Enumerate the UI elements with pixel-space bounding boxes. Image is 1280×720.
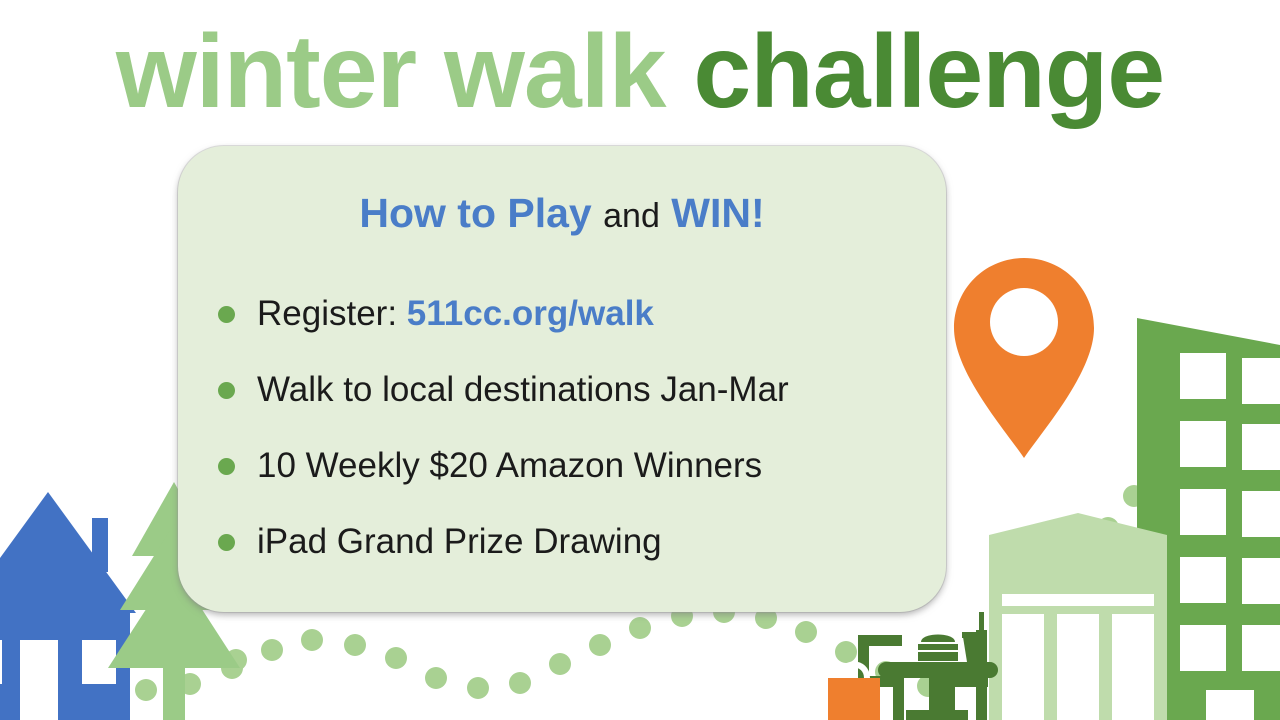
shopping-bag-icon: [828, 665, 880, 720]
poster-canvas: winter walk challenge How to Play and WI…: [0, 0, 1280, 720]
list-item-label: Register: 511cc.org/walk: [257, 294, 654, 334]
list-item-text: 10 Weekly $20 Amazon Winners: [257, 446, 762, 485]
title-dark-part: challenge: [693, 14, 1164, 130]
heading-conjunction: and: [603, 197, 660, 235]
card-heading: How to Play and WIN!: [178, 190, 946, 239]
page-title: winter walk challenge: [0, 14, 1280, 130]
list-item: Register: 511cc.org/walk: [218, 276, 918, 352]
heading-trail: WIN!: [671, 190, 764, 236]
list-item-label: 10 Weekly $20 Amazon Winners: [257, 446, 762, 486]
map-pin-icon: [954, 258, 1094, 458]
list-item-label: iPad Grand Prize Drawing: [257, 522, 662, 562]
bullet-dot-icon: [218, 306, 235, 323]
list-item: Walk to local destinations Jan-Mar: [218, 352, 918, 428]
bullet-dot-icon: [218, 458, 235, 475]
list-item-label: Walk to local destinations Jan-Mar: [257, 370, 789, 410]
house-icon: [0, 492, 136, 720]
list-item-text: iPad Grand Prize Drawing: [257, 522, 662, 561]
bullet-list: Register: 511cc.org/walk Walk to local d…: [218, 276, 918, 580]
burger-icon: [918, 635, 958, 662]
list-item-text: Register:: [257, 294, 407, 333]
register-link[interactable]: 511cc.org/walk: [407, 294, 654, 333]
title-light-part: winter walk: [116, 14, 666, 130]
list-item: iPad Grand Prize Drawing: [218, 504, 918, 580]
bullet-dot-icon: [218, 382, 235, 399]
how-to-play-card: How to Play and WIN! Register: 511cc.org…: [178, 146, 946, 612]
heading-lead: How to Play: [359, 190, 591, 236]
bullet-dot-icon: [218, 534, 235, 551]
list-item: 10 Weekly $20 Amazon Winners: [218, 428, 918, 504]
list-item-text: Walk to local destinations Jan-Mar: [257, 370, 789, 409]
storefront-shop-icon: [989, 513, 1167, 720]
